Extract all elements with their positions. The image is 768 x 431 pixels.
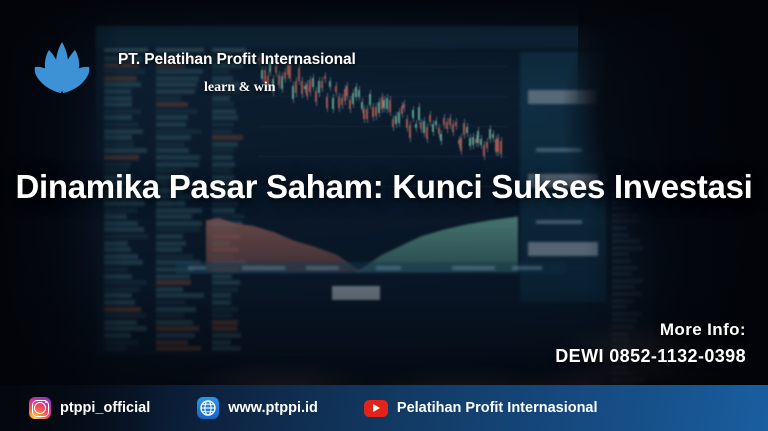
contact-block: More Info: DEWI 0852-1132-0398 — [555, 320, 746, 367]
brand-name: PT. Pelatihan Profit Internasional — [118, 51, 356, 69]
page-title: Dinamika Pasar Saham: Kunci Sukses Inves… — [0, 166, 768, 208]
website-url: www.ptppi.id — [228, 400, 318, 416]
youtube-icon — [364, 400, 388, 417]
footer-item-website[interactable]: www.ptppi.id — [197, 397, 318, 419]
youtube-channel: Pelatihan Profit Internasional — [397, 400, 598, 416]
poster-canvas: PT. Pelatihan Profit Internasional learn… — [0, 0, 768, 431]
more-info-label: More Info: — [555, 320, 746, 340]
instagram-handle: ptppi_official — [60, 400, 150, 416]
footer-item-instagram[interactable]: ptppi_official — [29, 397, 150, 419]
lotus-flower-logo-icon — [29, 36, 95, 98]
brand-tagline: learn & win — [204, 80, 276, 96]
contact-phone: DEWI 0852-1132-0398 — [555, 346, 746, 367]
globe-icon — [197, 397, 219, 419]
footer-item-youtube[interactable]: Pelatihan Profit Internasional — [364, 400, 598, 417]
instagram-icon — [29, 397, 51, 419]
footer-bar: ptppi_official www.ptppi.id Pelatihan Pr… — [0, 385, 768, 431]
